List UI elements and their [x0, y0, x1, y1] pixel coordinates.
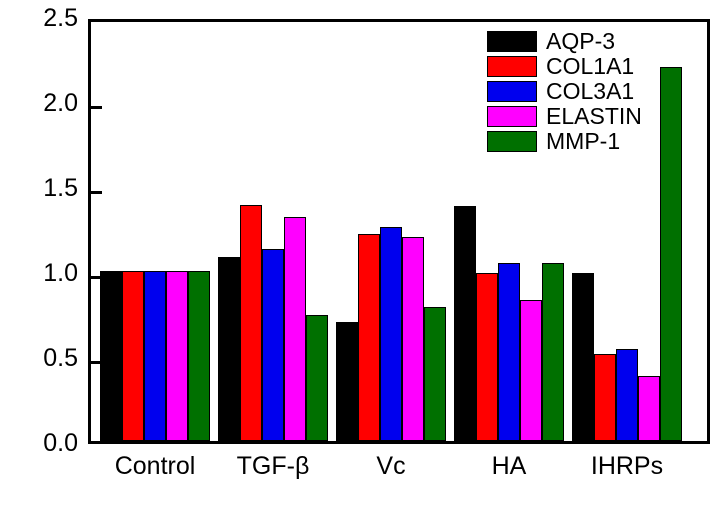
legend-color-swatch: [487, 31, 537, 52]
bar-col3a1-tgf-[interactable]: [262, 249, 284, 441]
bar-elastin-control[interactable]: [166, 271, 188, 441]
bar-col3a1-ha[interactable]: [498, 263, 520, 442]
legend-item[interactable]: AQP-3: [487, 29, 642, 54]
bar-col3a1-control[interactable]: [144, 271, 166, 441]
bar-group: [100, 22, 210, 441]
legend-label: AQP-3: [546, 30, 615, 53]
bar-aqp-3-ha[interactable]: [454, 206, 476, 441]
bar-mmp-1-control[interactable]: [188, 271, 210, 441]
bar-col1a1-vc[interactable]: [358, 234, 380, 441]
legend-label: MMP-1: [546, 130, 620, 153]
legend-item[interactable]: MMP-1: [487, 129, 642, 154]
bar-mmp-1-tgf-[interactable]: [306, 315, 328, 441]
bar-mmp-1-ihrps[interactable]: [660, 67, 682, 441]
bar-elastin-vc[interactable]: [402, 237, 424, 441]
x-axis-tick-label: IHRPs: [537, 452, 717, 481]
bar-col1a1-ha[interactable]: [476, 273, 498, 441]
legend-item[interactable]: ELASTIN: [487, 104, 642, 129]
legend-item[interactable]: COL1A1: [487, 54, 642, 79]
bar-elastin-ihrps[interactable]: [638, 376, 660, 441]
bar-elastin-tgf-[interactable]: [284, 217, 306, 441]
bar-mmp-1-vc[interactable]: [424, 307, 446, 441]
y-axis-tick-labels: 2.52.01.51.00.50.0: [0, 0, 78, 506]
y-axis-tick-label: 2.0: [16, 91, 78, 116]
legend-label: ELASTIN: [546, 105, 642, 128]
legend-label: COL1A1: [546, 55, 634, 78]
bar-col3a1-vc[interactable]: [380, 227, 402, 441]
bar-aqp-3-tgf-[interactable]: [218, 257, 240, 441]
legend-color-swatch: [487, 81, 537, 102]
bar-group: [218, 22, 328, 441]
bar-aqp-3-ihrps[interactable]: [572, 273, 594, 441]
y-axis-tick-label: 0.5: [16, 346, 78, 371]
y-axis-tick-label: 2.5: [16, 6, 78, 31]
legend-color-swatch: [487, 106, 537, 127]
legend-label: COL3A1: [546, 80, 634, 103]
bar-aqp-3-vc[interactable]: [336, 322, 358, 441]
legend-color-swatch: [487, 131, 537, 152]
bar-col1a1-ihrps[interactable]: [594, 354, 616, 441]
legend-item[interactable]: COL3A1: [487, 79, 642, 104]
bar-col1a1-tgf-[interactable]: [240, 205, 262, 441]
chart-legend: AQP-3COL1A1COL3A1ELASTINMMP-1: [487, 29, 642, 154]
bar-group: [336, 22, 446, 441]
y-axis-tick-label: 1.0: [16, 261, 78, 286]
bar-elastin-ha[interactable]: [520, 300, 542, 441]
legend-color-swatch: [487, 56, 537, 77]
bar-col1a1-control[interactable]: [122, 271, 144, 441]
bar-mmp-1-ha[interactable]: [542, 263, 564, 442]
bar-aqp-3-control[interactable]: [100, 271, 122, 441]
y-axis-tick-label: 1.5: [16, 176, 78, 201]
bar-chart-figure: Relative quantification 2.52.01.51.00.50…: [0, 0, 725, 506]
bar-col3a1-ihrps[interactable]: [616, 349, 638, 441]
